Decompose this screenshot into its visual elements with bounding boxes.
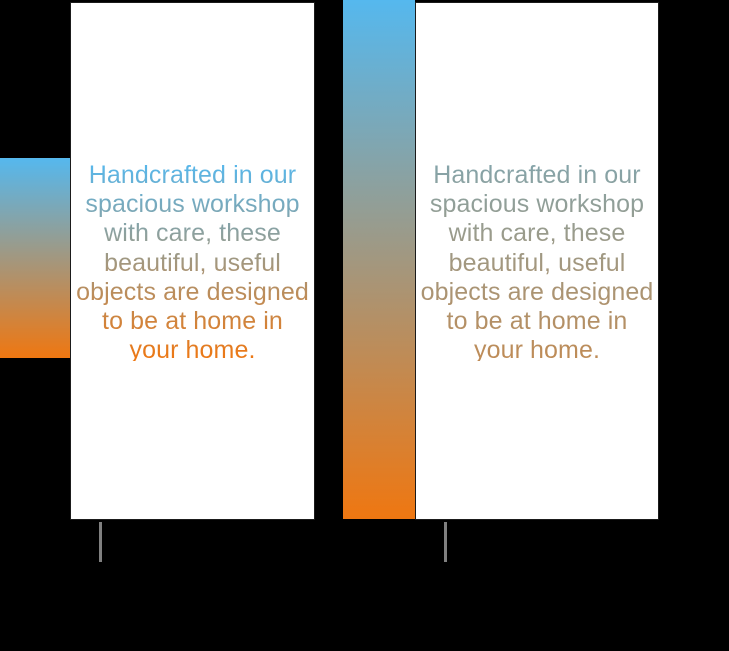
text-card-right: Handcrafted in our spacious workshop wit… xyxy=(415,2,659,520)
tick-mark-left xyxy=(99,522,102,562)
card-left-paragraph: Handcrafted in our spacious workshop wit… xyxy=(71,161,314,361)
canvas-stage: Handcrafted in our spacious workshop wit… xyxy=(0,0,729,651)
gradient-swatch-box-scoped xyxy=(343,0,415,519)
card-right-paragraph: Handcrafted in our spacious workshop wit… xyxy=(416,161,658,361)
gradient-swatch-text-scoped xyxy=(0,158,70,358)
tick-mark-right xyxy=(444,522,447,562)
text-card-left: Handcrafted in our spacious workshop wit… xyxy=(70,2,315,520)
